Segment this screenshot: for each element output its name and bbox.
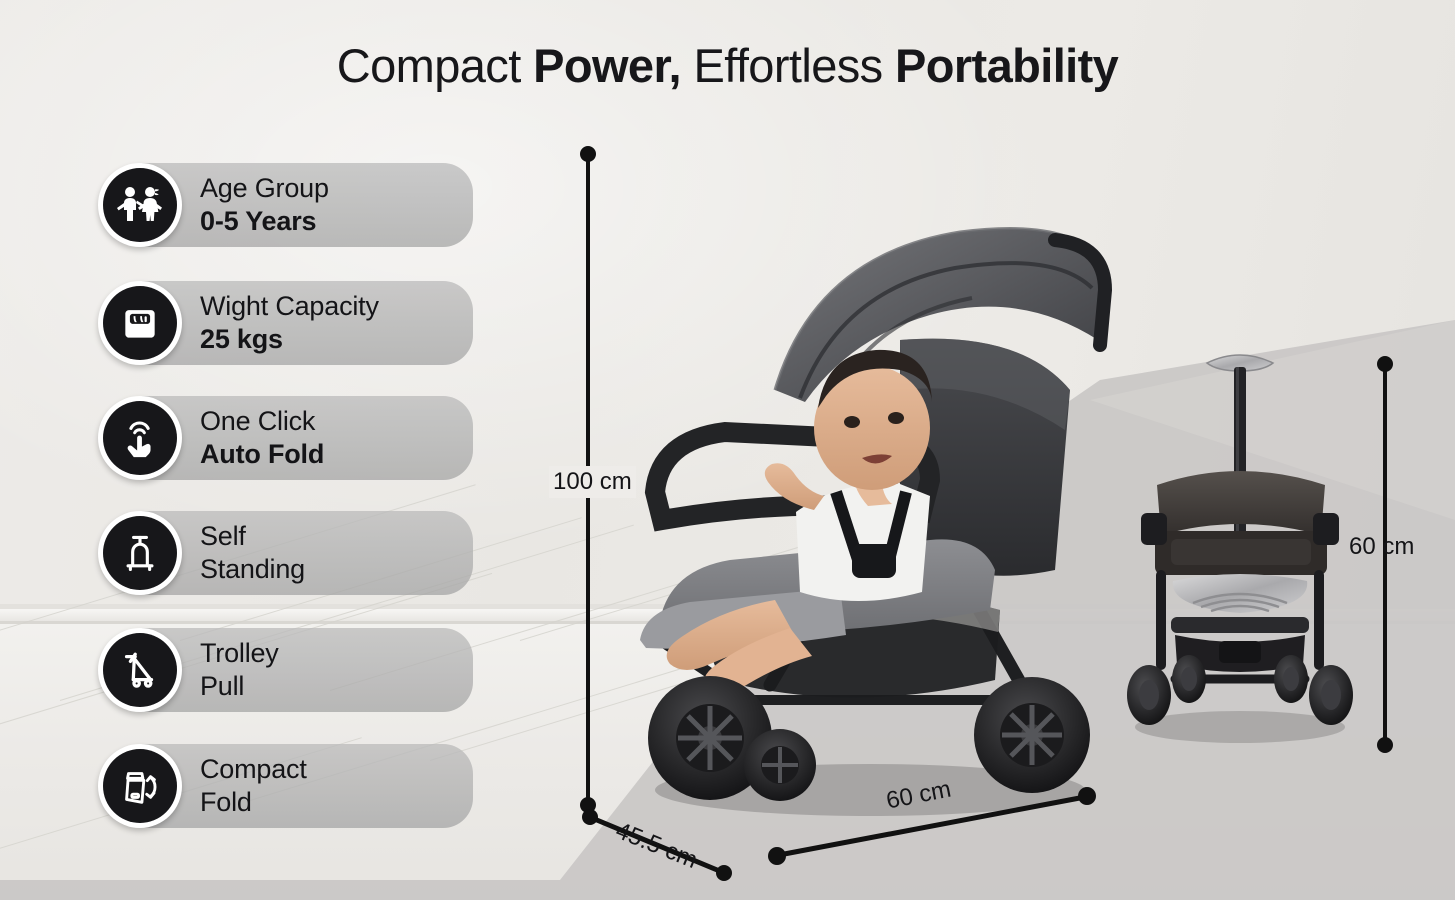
trolley-pull-icon — [103, 633, 177, 707]
feature-item-one-click[interactable]: One ClickAuto Fold — [98, 396, 473, 480]
page-title: Compact Power, Effortless Portability — [0, 38, 1455, 93]
self-standing-icon — [103, 516, 177, 590]
feature-item-self[interactable]: SelfStanding — [98, 511, 473, 595]
feature-line-2: 0-5 Years — [200, 205, 480, 238]
feature-line-1: Self — [200, 520, 480, 553]
title-part-4: Portability — [895, 39, 1118, 92]
feature-item-wight-capacity[interactable]: Wight Capacity25 kgs — [98, 281, 473, 365]
feature-line-2: Fold — [200, 786, 480, 819]
feature-text: Age Group0-5 Years — [200, 172, 480, 238]
feature-line-1: One Click — [200, 405, 480, 438]
compact-fold-icon — [103, 749, 177, 823]
feature-text: Wight Capacity25 kgs — [200, 290, 480, 356]
dimension-folded-height-label: 60 cm — [1349, 533, 1414, 561]
feature-icon-ring — [98, 281, 182, 365]
one-click-tap-icon — [103, 401, 177, 475]
infographic-canvas: Compact Power, Effortless Portability Ag… — [0, 0, 1455, 900]
feature-line-1: Compact — [200, 753, 480, 786]
feature-icon-ring — [98, 744, 182, 828]
feature-line-1: Wight Capacity — [200, 290, 480, 323]
feature-line-1: Trolley — [200, 637, 480, 670]
stroller-folded-photo — [1115, 335, 1365, 755]
title-part-3: Effortless — [681, 39, 895, 92]
feature-item-compact[interactable]: CompactFold — [98, 744, 473, 828]
feature-text: SelfStanding — [200, 520, 480, 586]
feature-line-2: 25 kgs — [200, 323, 480, 356]
feature-item-trolley[interactable]: TrolleyPull — [98, 628, 473, 712]
title-part-1: Compact — [337, 39, 533, 92]
two-children-icon — [103, 168, 177, 242]
feature-icon-ring — [98, 163, 182, 247]
feature-text: One ClickAuto Fold — [200, 405, 480, 471]
stroller-main-photo — [600, 140, 1120, 820]
feature-text: CompactFold — [200, 753, 480, 819]
mid-wheel — [744, 729, 816, 801]
title-part-2: Power, — [533, 39, 681, 92]
feature-line-2: Standing — [200, 553, 480, 586]
feature-item-age-group[interactable]: Age Group0-5 Years — [98, 163, 473, 247]
rear-wheel — [974, 677, 1090, 793]
feature-line-2: Auto Fold — [200, 438, 480, 471]
feature-icon-ring — [98, 628, 182, 712]
feature-line-1: Age Group — [200, 172, 480, 205]
feature-icon-ring — [98, 396, 182, 480]
feature-line-2: Pull — [200, 670, 480, 703]
weight-scale-icon — [103, 286, 177, 360]
feature-text: TrolleyPull — [200, 637, 480, 703]
feature-icon-ring — [98, 511, 182, 595]
dimension-height-label: 100 cm — [549, 466, 636, 498]
